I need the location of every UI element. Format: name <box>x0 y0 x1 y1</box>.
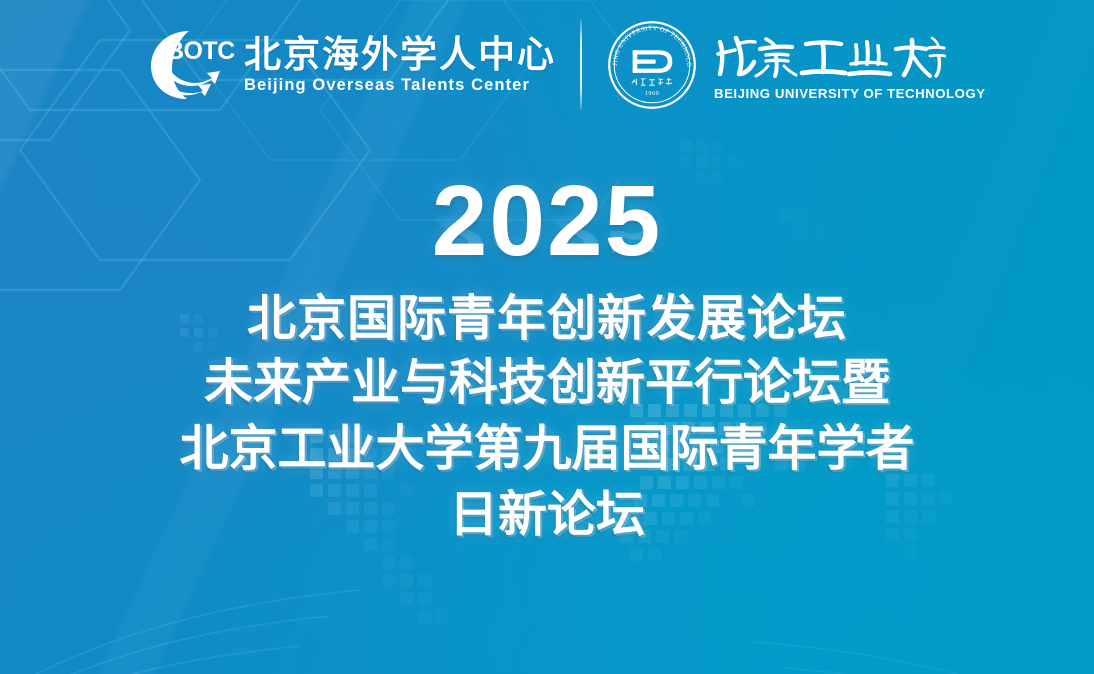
botc-name-en: Beijing Overseas Talents Center <box>244 77 556 94</box>
bjut-name-en: BEIJING UNIVERSITY OF TECHNOLOGY <box>714 87 946 100</box>
poster-canvas: BOTC 北京海外学人中心 Beijing Overseas Talents C… <box>0 0 1094 674</box>
logo-divider <box>580 20 582 110</box>
title-line-2: 未来产业与科技创新平行论坛暨 <box>0 350 1094 416</box>
svg-text:BOTC: BOTC <box>166 37 234 65</box>
bjut-seal-icon: BEIJING UNIVERSITY OF TECHNOLOGY <box>606 19 698 111</box>
bjut-wordmark: BEIJING UNIVERSITY OF TECHNOLOGY <box>714 30 946 100</box>
title-line-4: 日新论坛 <box>0 482 1094 548</box>
poster-title-block: 2025 2025 北京国际青年创新发展论坛 未来产业与科技创新平行论坛暨 北京… <box>0 176 1094 548</box>
botc-logo: BOTC 北京海外学人中心 Beijing Overseas Talents C… <box>148 26 556 104</box>
svg-text:1960: 1960 <box>645 91 659 97</box>
bjut-logo: BEIJING UNIVERSITY OF TECHNOLOGY <box>606 19 946 111</box>
botc-name-cn: 北京海外学人中心 <box>244 36 556 73</box>
botc-swoosh-icon: BOTC <box>148 26 234 104</box>
title-line-1: 北京国际青年创新发展论坛 <box>0 288 1094 350</box>
logo-header: BOTC 北京海外学人中心 Beijing Overseas Talents C… <box>0 0 1094 130</box>
year-wrapper: 2025 2025 <box>0 176 1094 288</box>
title-line-3: 北京工业大学第九届国际青年学者 <box>0 416 1094 482</box>
bjut-name-cn <box>714 30 946 80</box>
year-heading: 2025 <box>0 176 1094 266</box>
botc-wordmark: 北京海外学人中心 Beijing Overseas Talents Center <box>244 36 556 94</box>
